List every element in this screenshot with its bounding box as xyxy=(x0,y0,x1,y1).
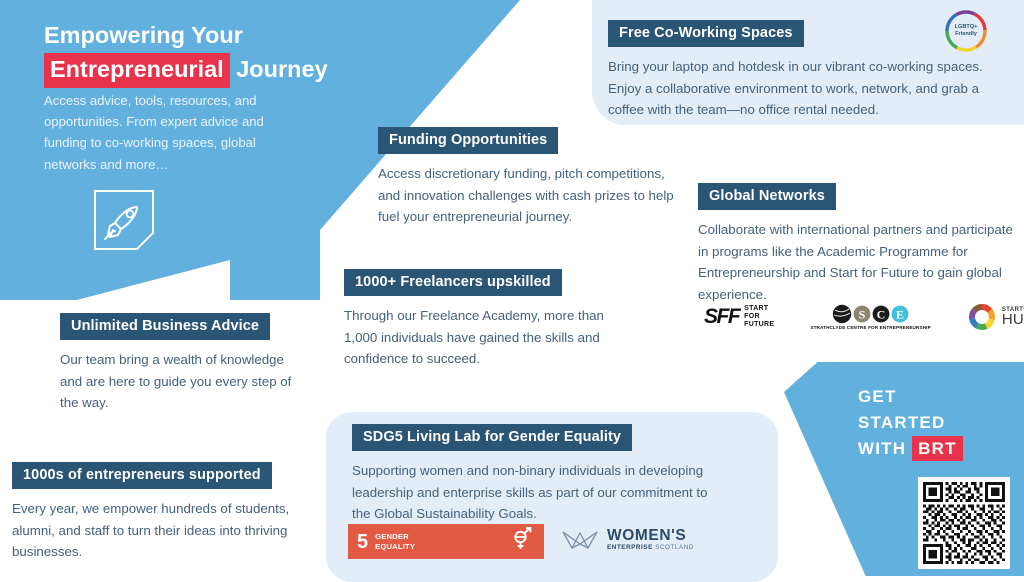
sdg5-label: GENDER EQUALITY xyxy=(375,532,415,551)
sce-s-icon: S xyxy=(853,305,871,323)
qr-code[interactable] xyxy=(918,477,1010,569)
card-global-networks: Global Networks Collaborate with interna… xyxy=(698,183,1024,305)
card-funding-opportunities: Funding Opportunities Access discretiona… xyxy=(378,127,678,228)
card-body: Every year, we empower hundreds of stude… xyxy=(12,498,306,563)
card-body: Bring your laptop and hotdesk in our vib… xyxy=(608,56,988,121)
card-title: Free Co-Working Spaces xyxy=(608,20,804,47)
card-body: Collaborate with international partners … xyxy=(698,219,1024,305)
rocket-icon xyxy=(93,189,155,251)
sff-wordmark: SFF xyxy=(704,305,739,329)
sdg5-number: 5 xyxy=(357,532,368,552)
sce-wordmark: STRATHCLYDE CENTRE FOR ENTREPRENEURSHIP xyxy=(810,325,930,330)
cta-line3-prefix: WITH xyxy=(858,439,912,458)
card-free-co-working-spaces: Free Co-Working Spaces Bring your laptop… xyxy=(608,20,998,121)
page-title-line1: Empowering Your xyxy=(44,22,243,48)
card-title: Global Networks xyxy=(698,183,836,210)
card-body: Access discretionary funding, pitch comp… xyxy=(378,163,678,228)
wes-subtitle: ENTERPRISE SCOTLAND xyxy=(607,545,694,552)
cta-line2: STARTED xyxy=(858,413,945,432)
cta-heading: GET STARTED WITH BRT xyxy=(858,384,963,461)
page-title: Empowering Your Entrepreneurial Journey xyxy=(44,20,344,90)
wes-mark-icon xyxy=(560,526,600,554)
gender-equality-icon xyxy=(509,526,535,557)
page-title-highlight: Entrepreneurial xyxy=(44,53,230,87)
card-title: 1000s of entrepreneurs supported xyxy=(12,462,272,489)
card-title: Funding Opportunities xyxy=(378,127,558,154)
sce-marks: S C E xyxy=(832,304,909,324)
qr-code-image xyxy=(923,482,1005,564)
card-freelancers-upskilled: 1000+ Freelancers upskilled Through our … xyxy=(344,269,624,370)
sce-e-icon: E xyxy=(891,305,909,323)
svg-text:E: E xyxy=(896,307,904,321)
card-sdg5-living-lab: SDG5 Living Lab for Gender Equality Supp… xyxy=(352,424,732,525)
wes-wordmark: WOMEN'S ENTERPRISE SCOTLAND xyxy=(607,528,694,552)
card-unlimited-business-advice: Unlimited Business Advice Our team bring… xyxy=(60,313,310,414)
card-title: Unlimited Business Advice xyxy=(60,313,270,340)
card-body: Our team bring a wealth of knowledge and… xyxy=(60,349,308,414)
strathclyde-centre-entrepreneurship-logo: S C E STRATHCLYDE CENTRE FOR ENTREPRENEU… xyxy=(810,304,930,330)
svg-text:C: C xyxy=(877,307,886,321)
sff-tagline: START FOR FUTURE xyxy=(744,305,774,330)
card-body: Supporting women and non-binary individu… xyxy=(352,460,724,525)
card-title: SDG5 Living Lab for Gender Equality xyxy=(352,424,632,451)
cta-line1: GET xyxy=(858,387,897,406)
sce-sphere-icon xyxy=(832,304,852,324)
card-title: 1000+ Freelancers upskilled xyxy=(344,269,562,296)
sce-c-icon: C xyxy=(872,305,890,323)
startup-huddle-logo: STARTUP HUDDLE xyxy=(967,302,1024,332)
huddle-ring-icon xyxy=(967,302,997,332)
cta-brand-badge: BRT xyxy=(912,436,963,462)
partner-logos-row: SFF START FOR FUTURE S C E xyxy=(704,302,1024,332)
hero-subtitle: Access advice, tools, resources, and opp… xyxy=(44,90,306,175)
womens-enterprise-scotland-logo: WOMEN'S ENTERPRISE SCOTLAND xyxy=(560,526,694,554)
sdg5-goal-badge: 5 GENDER EQUALITY xyxy=(348,524,544,559)
sff-logo: SFF START FOR FUTURE xyxy=(704,305,774,330)
svg-text:S: S xyxy=(859,307,866,321)
card-entrepreneurs-supported: 1000s of entrepreneurs supported Every y… xyxy=(12,462,312,563)
card-body: Through our Freelance Academy, more than… xyxy=(344,305,616,370)
page-title-line2-tail: Journey xyxy=(236,56,327,82)
huddle-wordmark: STARTUP HUDDLE xyxy=(1002,307,1024,327)
